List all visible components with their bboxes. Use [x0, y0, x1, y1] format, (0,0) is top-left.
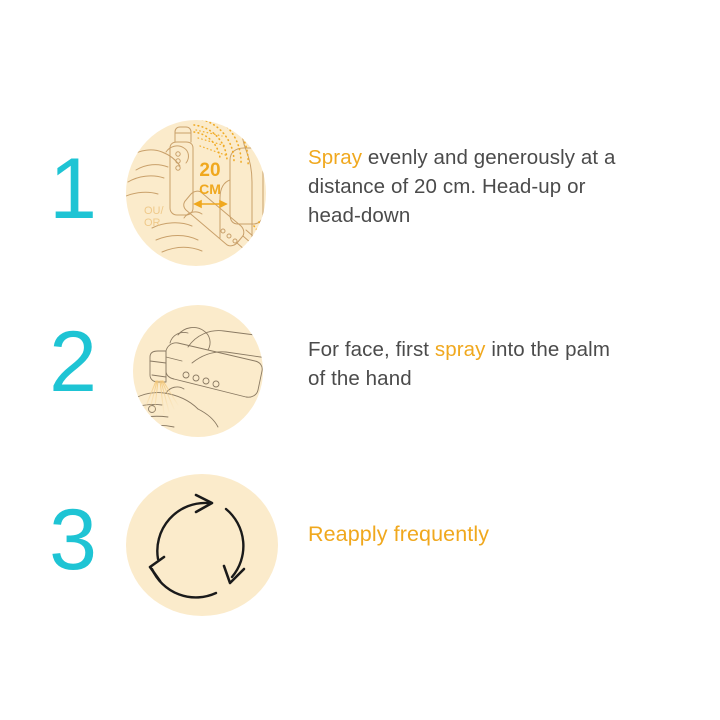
step-1-text-line-3: head-down	[308, 201, 683, 230]
step-row-1: 1	[0, 118, 720, 268]
step-1-text-line-1: Spray evenly and generously at a	[308, 143, 683, 172]
alternative-label-line-1: OU/	[144, 205, 165, 217]
step-1-text-rest: evenly and generously at a	[362, 146, 615, 169]
alternative-label-line-2: OR	[144, 217, 161, 229]
spray-bottle-on-body-illustration: 20 CM OU/ OR	[126, 118, 301, 273]
step-3-text-line-1: Reapply frequently	[308, 520, 683, 549]
illustration-circle-background	[126, 474, 278, 616]
step-2-text-lead: For face, first	[308, 338, 435, 361]
step-number-1: 1	[38, 146, 108, 232]
step-2-illustration	[126, 305, 301, 437]
step-2-text-rest: into the palm	[486, 338, 610, 361]
step-2-text-line-1: For face, first spray into the palm	[308, 335, 683, 364]
step-3-text: Reapply frequently	[308, 520, 683, 549]
step-2-text-line-2: of the hand	[308, 364, 683, 393]
step-row-3: 3 Reapply frequently	[0, 473, 720, 618]
step-2-highlight-word: spray	[435, 338, 486, 361]
step-1-text: Spray evenly and generously at a distanc…	[308, 143, 683, 230]
step-1-text-line-2: distance of 20 cm. Head-up or	[308, 172, 683, 201]
distance-unit-label: CM	[199, 181, 221, 197]
step-3-illustration	[126, 473, 301, 618]
illustration-circle-background	[133, 305, 263, 437]
step-number-2: 2	[38, 319, 108, 405]
distance-value-label: 20	[199, 160, 220, 181]
circular-arrows-reapply-illustration	[126, 473, 301, 618]
step-1-highlight-word: Spray	[308, 146, 362, 169]
step-row-2: 2	[0, 305, 720, 437]
step-2-text: For face, first spray into the palm of t…	[308, 335, 683, 393]
spray-into-palm-illustration	[126, 305, 301, 437]
spray-instructions-infographic: 1	[0, 0, 720, 720]
step-number-3: 3	[38, 497, 108, 583]
step-1-illustration: 20 CM OU/ OR	[126, 118, 301, 273]
